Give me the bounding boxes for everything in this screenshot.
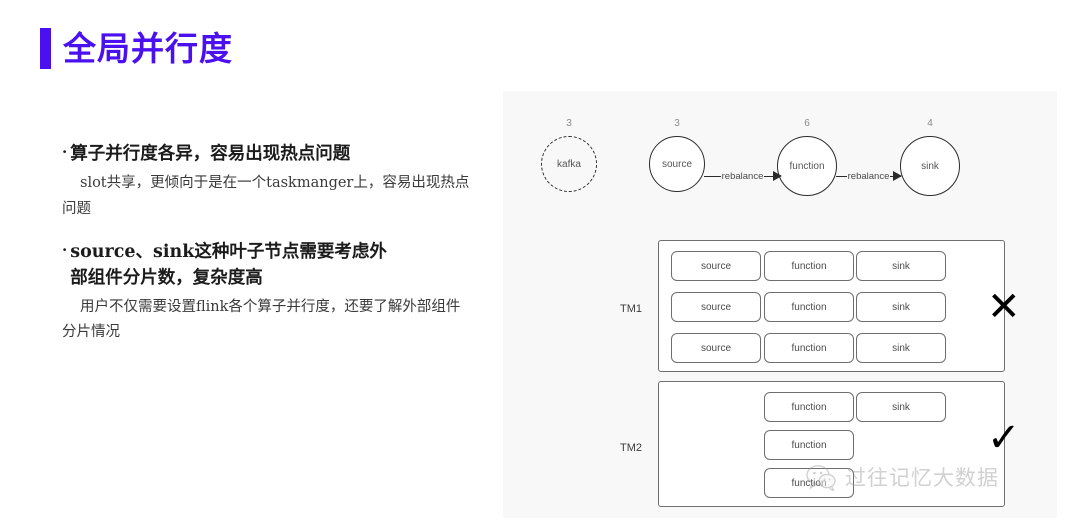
edge-arrowhead-icon [773,171,782,181]
diagram-panel: 3 kafka 3 source rebalance 6 function re… [503,91,1057,518]
content-body: · 算子并行度各异，容易出现热点问题 slot共享，更倾向于是在一个taskma… [62,142,472,346]
node-parallelism-label: 6 [768,118,846,129]
slot-box: function [764,292,854,322]
title-label: 全局并行度 [63,32,233,65]
node-parallelism-label: 3 [533,118,605,129]
slot-box: function [764,430,854,460]
title-accent-bar [40,28,51,69]
bullet-heading-row: · 算子并行度各异，容易出现热点问题 [62,142,472,167]
verdict-mark-tm1: ✕ [987,287,1021,327]
node-label: source [649,136,705,192]
bullet-heading-text: source、sink这种叶子节点需要考虑外部组件分片数，复杂度高 [70,240,402,291]
edge-arrowhead-icon [893,171,902,181]
page-title: 全局并行度 [40,28,233,69]
node-label: kafka [541,136,597,192]
slot-box: source [671,292,761,322]
bullet-heading-text: 算子并行度各异，容易出现热点问题 [70,142,350,167]
slot-box: function [764,392,854,422]
slot-box: function [764,468,854,498]
edge-label: rebalance [847,171,891,182]
taskmanager-box-tm1: source function sink source function sin… [658,240,1005,372]
pipeline-node-kafka: 3 kafka [533,118,605,192]
taskmanager-label-tm1: TM1 [620,303,642,315]
bullet-marker-icon: · [62,142,67,164]
bullet-item: · source、sink这种叶子节点需要考虑外部组件分片数，复杂度高 用户不仅… [62,240,472,346]
slot-box: sink [856,392,946,422]
slot-box: source [671,333,761,363]
slot-box: sink [856,333,946,363]
bullet-detail-text: 用户不仅需要设置flink各个算子并行度，还要了解外部组件分片情况 [62,295,472,346]
pipeline-node-sink: 4 sink [892,118,968,192]
bullet-item: · 算子并行度各异，容易出现热点问题 slot共享，更倾向于是在一个taskma… [62,142,472,222]
taskmanager-box-tm2: function sink function function [658,381,1005,507]
node-label: function [777,136,837,196]
edge-label: rebalance [721,171,765,182]
slot-box: function [764,333,854,363]
slot-box: source [671,251,761,281]
slot-box: sink [856,292,946,322]
bullet-detail-text: slot共享，更倾向于是在一个taskmanger上，容易出现热点问题 [62,171,472,222]
node-parallelism-label: 3 [641,118,713,129]
pipeline-node-source: 3 source [641,118,713,192]
slot-box: sink [856,251,946,281]
node-label: sink [900,136,960,196]
bullet-heading-row: · source、sink这种叶子节点需要考虑外部组件分片数，复杂度高 [62,240,402,291]
taskmanager-label-tm2: TM2 [620,442,642,454]
verdict-mark-tm2: ✓ [987,418,1021,458]
node-parallelism-label: 4 [892,118,968,129]
slot-box: function [764,251,854,281]
bullet-marker-icon: · [62,240,67,262]
